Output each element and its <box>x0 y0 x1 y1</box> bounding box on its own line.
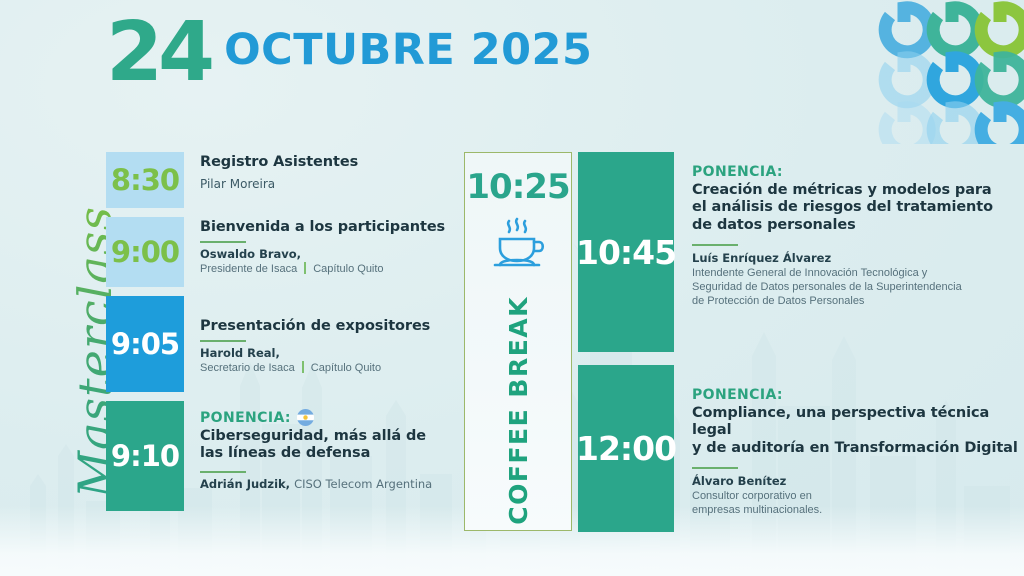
session-title: Presentación de expositores <box>200 318 430 335</box>
time-badge: 9:10 <box>106 401 184 511</box>
ponencia-label-row: PONENCIA: <box>692 164 993 180</box>
poster-header: 24 OCTUBRE 2025 <box>106 18 592 89</box>
title-rule <box>692 244 738 246</box>
schedule-left-column: 8:30 Registro Asistentes Pilar Moreira 9… <box>106 152 456 511</box>
coffee-cup-icon <box>487 215 549 276</box>
time-badge: 10:45 <box>578 152 674 352</box>
title-rule <box>692 467 738 469</box>
event-month-year: OCTUBRE 2025 <box>224 29 592 77</box>
title-rule <box>200 241 246 243</box>
schedule-item-content: PONENCIA: Ciberseguridad, más allá de la… <box>184 401 432 491</box>
session-title: Bienvenida a los participantes <box>200 219 445 236</box>
schedule-item-content: Presentación de expositores Harold Real,… <box>184 296 430 375</box>
argentina-flag-icon <box>297 409 314 426</box>
session-title: Ciberseguridad, más allá de las líneas d… <box>200 428 432 463</box>
speaker-role-part1: Secretario de Isaca <box>200 362 295 374</box>
time-badge: 9:05 <box>106 296 184 392</box>
schedule-item: 9:10 PONENCIA: Ciberseguridad, más allá … <box>106 401 456 511</box>
speaker-name: Oswaldo Bravo, <box>200 247 445 261</box>
speaker-role: Consultor corporativo en empresas multin… <box>692 489 1018 518</box>
ponencia-label: PONENCIA: <box>692 387 783 403</box>
schedule-item: 8:30 Registro Asistentes Pilar Moreira <box>106 152 456 208</box>
speaker-role: Presidente de IsacaCapítulo Quito <box>200 262 445 276</box>
speaker-name-text: Adrián Judzik, <box>200 477 290 491</box>
time-badge: 12:00 <box>578 365 674 532</box>
coffee-break-time: 10:25 <box>466 167 569 207</box>
ponencia-label: PONENCIA: <box>200 410 291 426</box>
poster-canvas: 24 OCTUBRE 2025 Masterclass 8:30 Registr… <box>0 0 1024 576</box>
speaker-role-part2: Capítulo Quito <box>313 263 383 275</box>
ponencia-label: PONENCIA: <box>692 164 783 180</box>
speaker-role-part1: Presidente de Isaca <box>200 263 297 275</box>
schedule-item: 9:05 Presentación de expositores Harold … <box>106 296 456 392</box>
schedule-item-content: Registro Asistentes Pilar Moreira <box>184 152 358 192</box>
schedule-item-content: PONENCIA: Compliance, una perspectiva té… <box>674 365 1018 517</box>
coffee-break-label: COFFEE BREAK <box>504 296 533 525</box>
speaker-name: Pilar Moreira <box>200 177 358 192</box>
speaker-role-inline: CISO Telecom Argentina <box>294 477 432 491</box>
time-badge: 9:00 <box>106 217 184 287</box>
speaker-role: Intendente General de Innovación Tecnoló… <box>692 266 993 309</box>
ponencia-label-row: PONENCIA: <box>200 409 432 426</box>
time-badge: 8:30 <box>106 152 184 208</box>
speaker-role-part2: Capítulo Quito <box>311 362 381 374</box>
speaker-name: Luís Enríquez Álvarez <box>692 251 993 265</box>
coffee-break-column: 10:25 COFFEE BREAK <box>464 152 574 532</box>
schedule-item-content: Bienvenida a los participantes Oswaldo B… <box>184 217 445 276</box>
session-title: Creación de métricas y modelos para el a… <box>692 182 993 234</box>
speaker-role: Secretario de IsacaCapítulo Quito <box>200 361 430 375</box>
speaker-name: Adrián Judzik, CISO Telecom Argentina <box>200 477 432 491</box>
schedule-item-content: PONENCIA: Creación de métricas y modelos… <box>674 152 993 308</box>
coffee-break-box: 10:25 COFFEE BREAK <box>464 152 572 531</box>
title-rule <box>200 471 246 473</box>
schedule-item: 12:00 PONENCIA: Compliance, una perspect… <box>578 365 1018 532</box>
event-day: 24 <box>106 18 210 89</box>
schedule-right-column: 10:45 PONENCIA: Creación de métricas y m… <box>578 152 1018 532</box>
ring-pattern-icon <box>848 0 1024 144</box>
session-title: Registro Asistentes <box>200 154 358 171</box>
schedule-item: 9:00 Bienvenida a los participantes Oswa… <box>106 217 456 287</box>
title-rule <box>200 340 246 342</box>
schedule-item: 10:45 PONENCIA: Creación de métricas y m… <box>578 152 1018 352</box>
ponencia-label-row: PONENCIA: <box>692 387 1018 403</box>
role-separator <box>304 262 306 274</box>
session-title: Compliance, una perspectiva técnica lega… <box>692 405 1018 457</box>
role-separator <box>302 361 304 373</box>
speaker-name: Álvaro Benítez <box>692 474 1018 488</box>
speaker-name: Harold Real, <box>200 346 430 360</box>
